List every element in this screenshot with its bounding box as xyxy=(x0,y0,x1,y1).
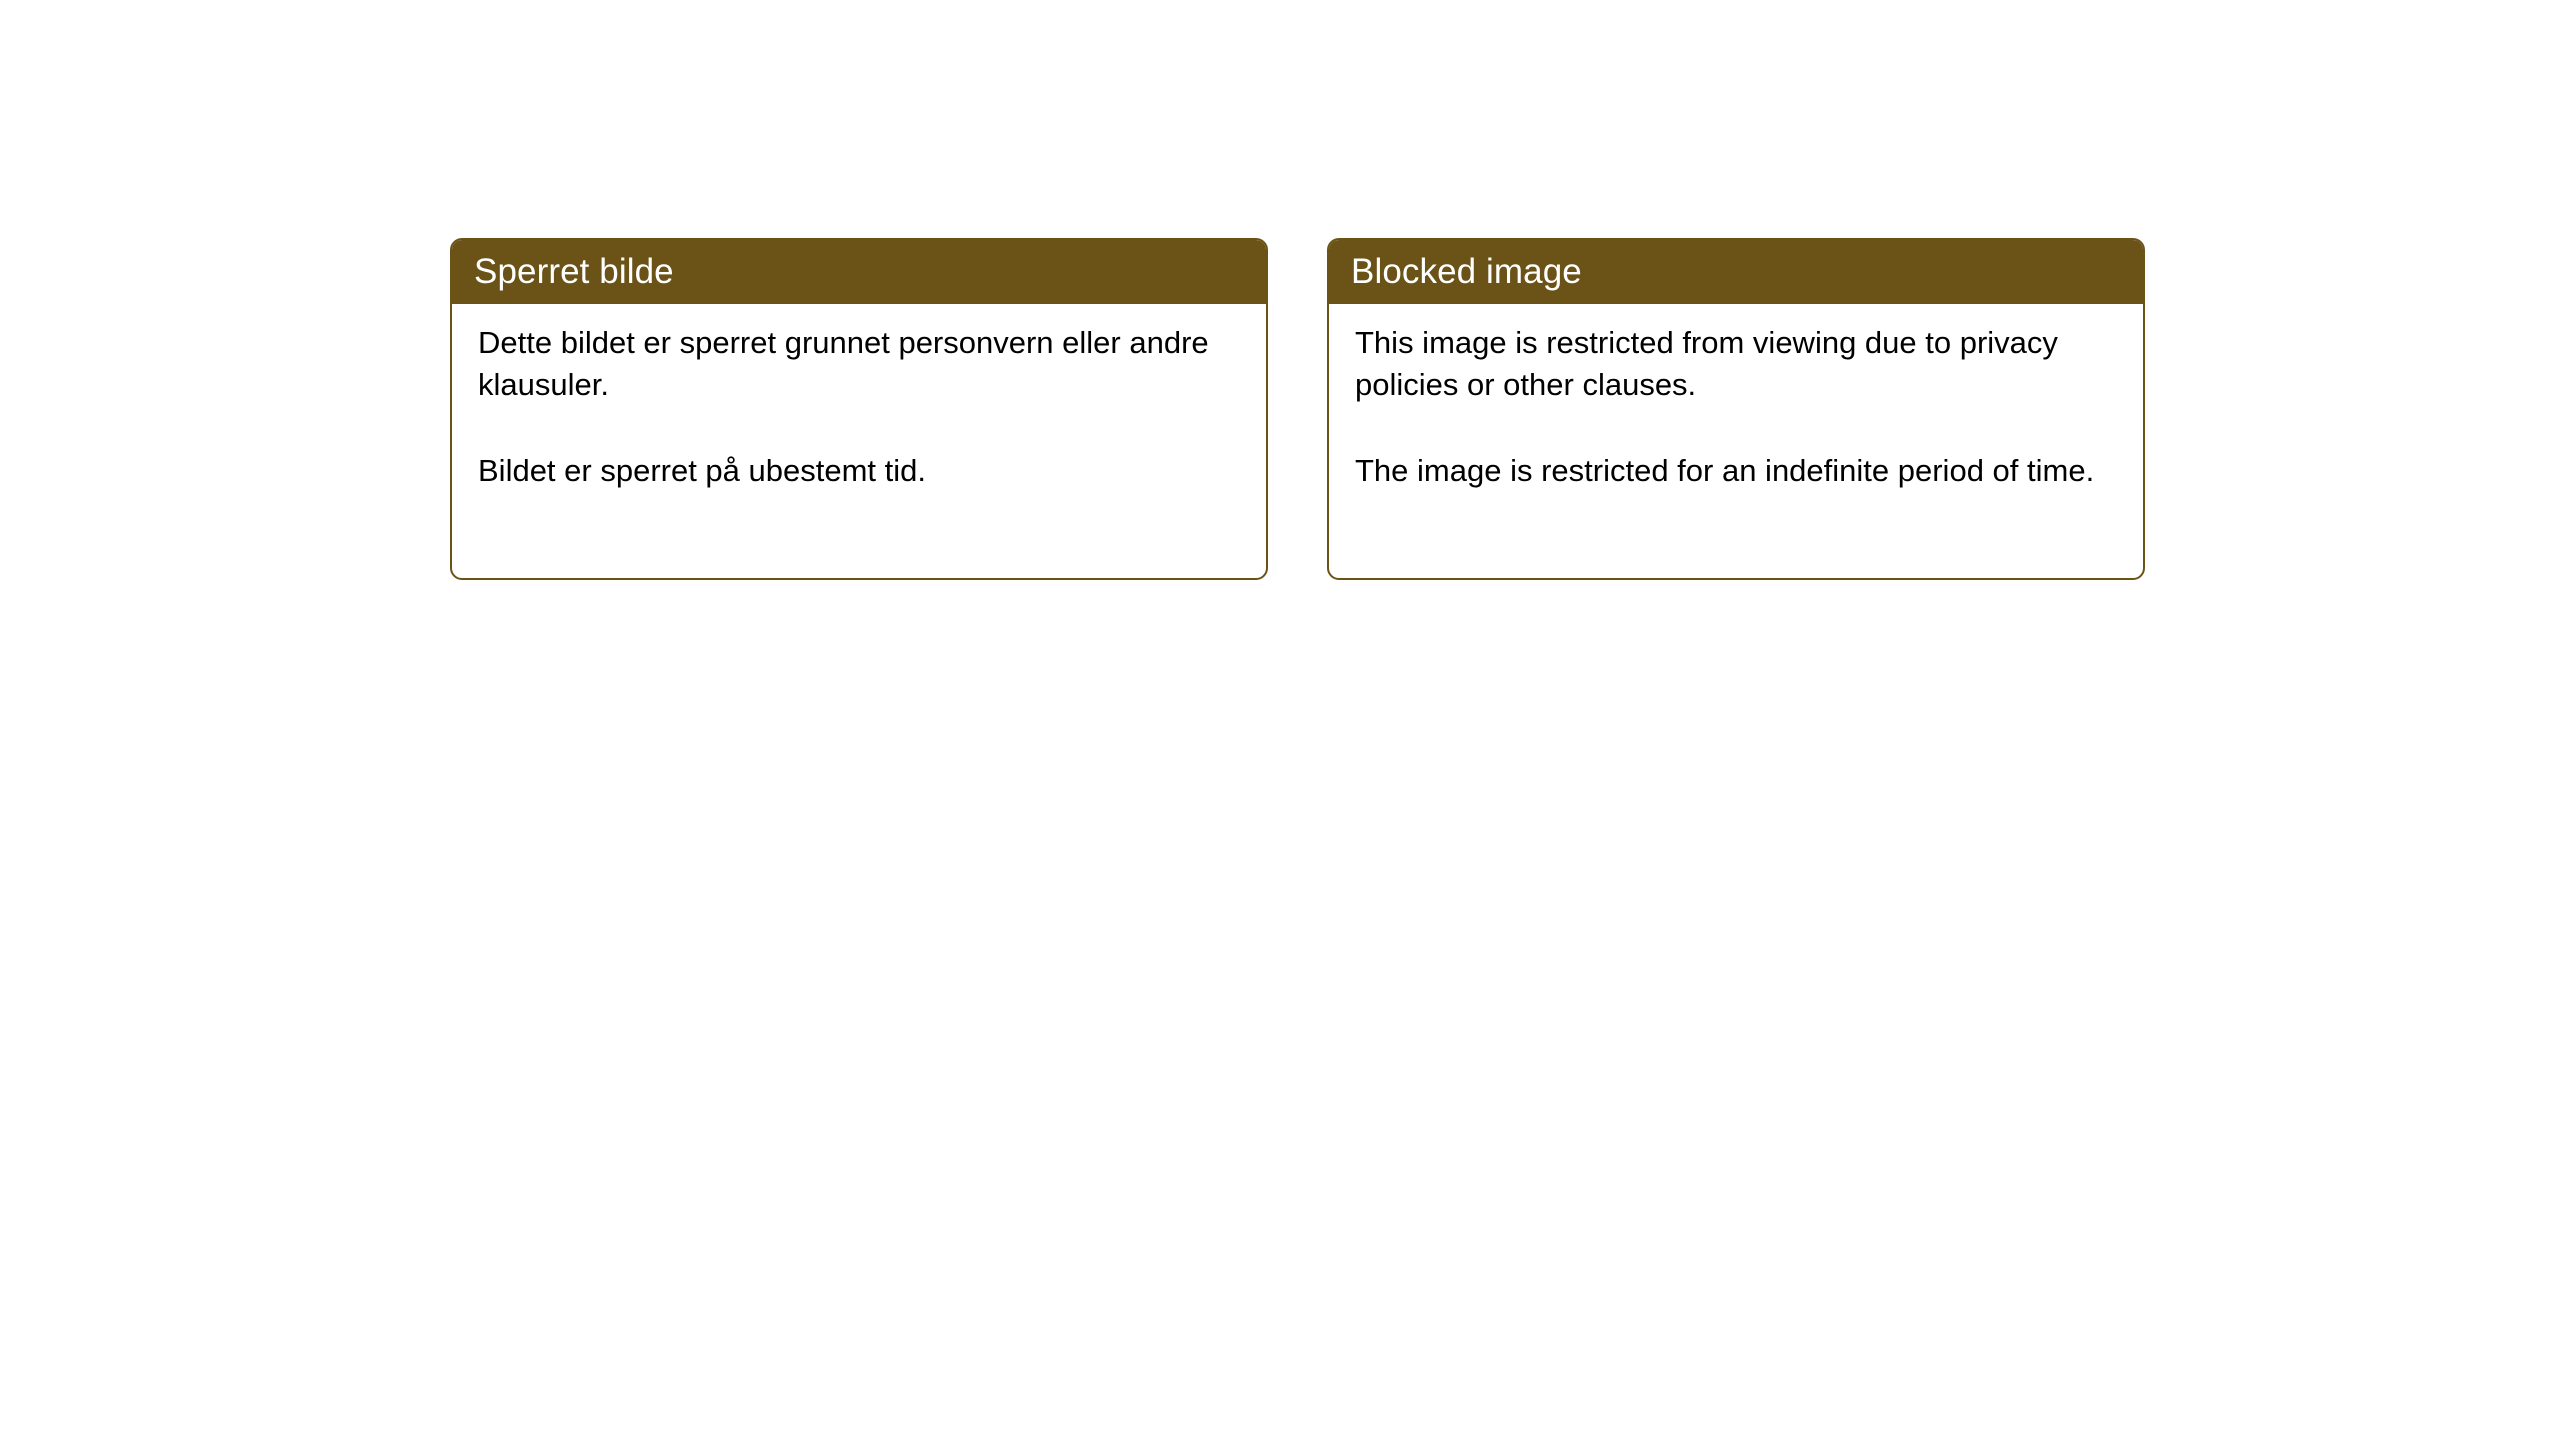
panel-title-norwegian: Sperret bilde xyxy=(474,254,674,289)
blocked-image-panel-norwegian: Sperret bilde Dette bildet er sperret gr… xyxy=(450,238,1268,580)
panel-header-english: Blocked image xyxy=(1327,238,2145,304)
page-canvas: Sperret bilde Dette bildet er sperret gr… xyxy=(0,0,2560,1440)
panel-header-norwegian: Sperret bilde xyxy=(450,238,1268,304)
panel-body-english: This image is restricted from viewing du… xyxy=(1329,304,2143,518)
panel-paragraph-english-1: This image is restricted from viewing du… xyxy=(1355,322,2117,406)
blocked-image-panel-english: Blocked image This image is restricted f… xyxy=(1327,238,2145,580)
panel-title-english: Blocked image xyxy=(1351,254,1582,289)
panel-paragraph-norwegian-2: Bildet er sperret på ubestemt tid. xyxy=(478,450,1240,492)
panel-paragraph-english-2: The image is restricted for an indefinit… xyxy=(1355,450,2117,492)
panel-paragraph-norwegian-1: Dette bildet er sperret grunnet personve… xyxy=(478,322,1240,406)
panel-body-norwegian: Dette bildet er sperret grunnet personve… xyxy=(452,304,1266,518)
